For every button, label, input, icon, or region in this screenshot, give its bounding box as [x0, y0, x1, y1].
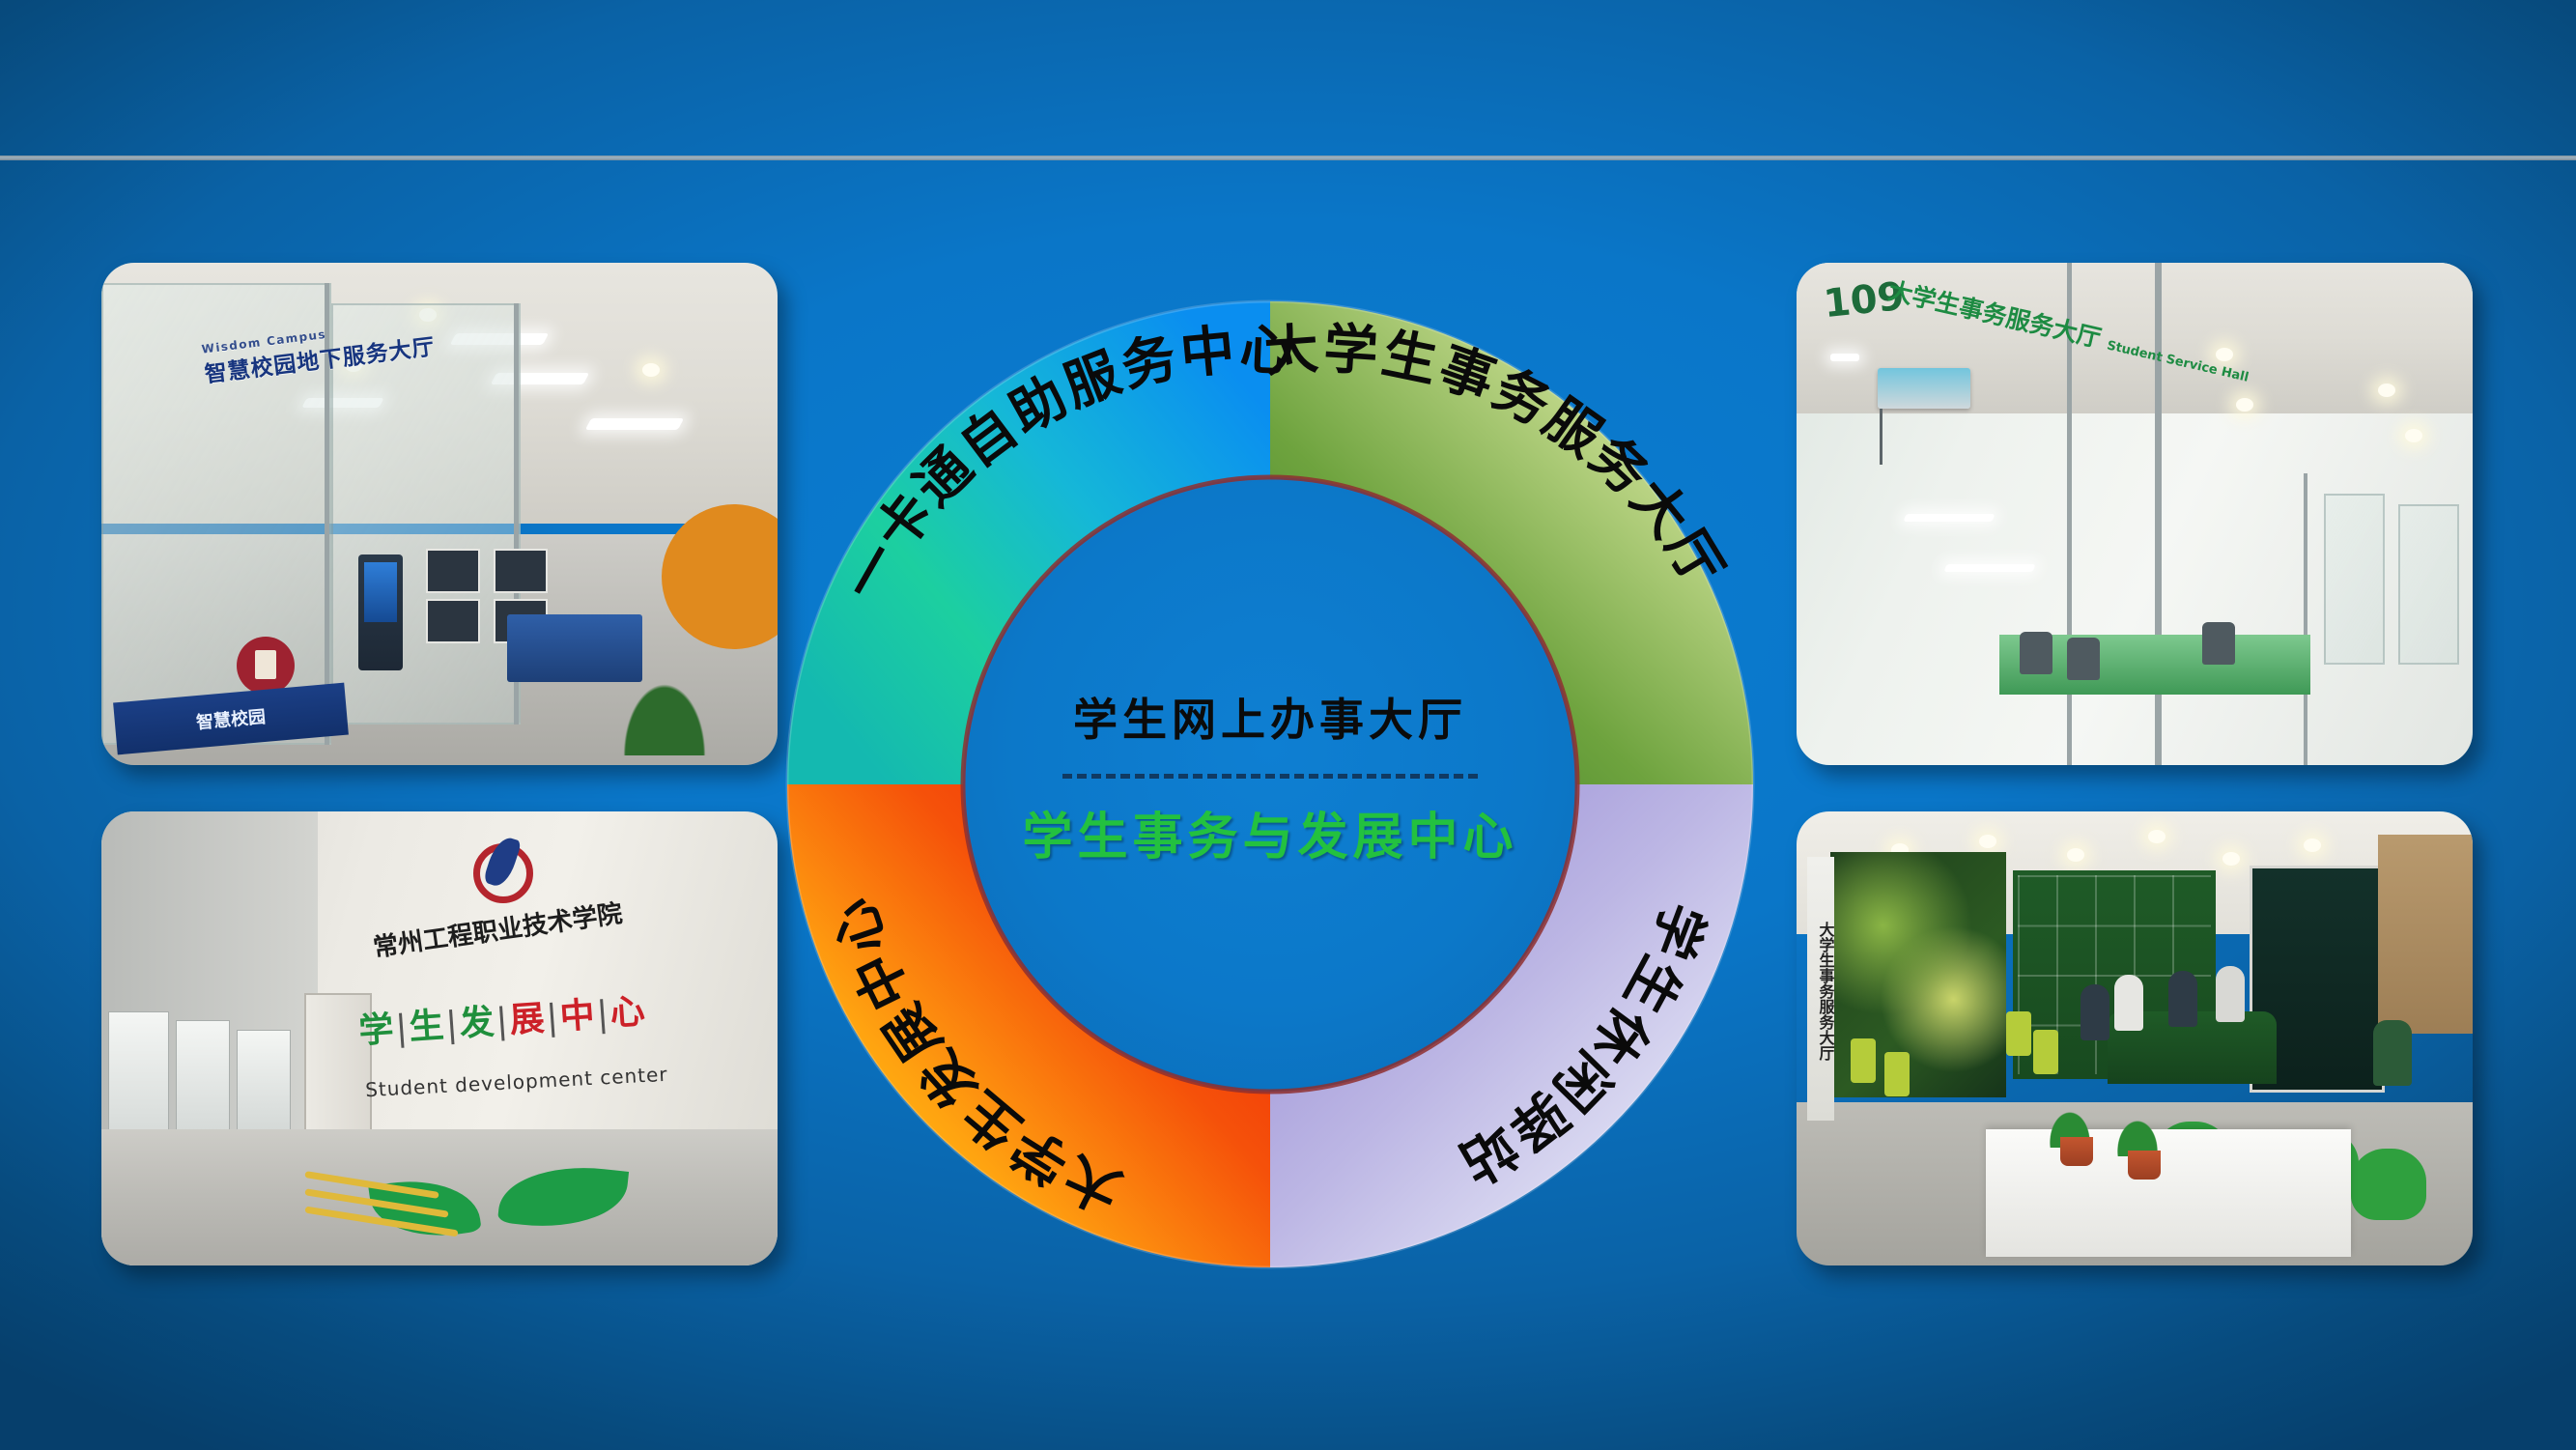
photo-card-student-lounge: 大学生事务服务大厅	[1797, 811, 2473, 1265]
ceiling-downlight	[2148, 830, 2166, 843]
lounge-chair	[2351, 1149, 2426, 1220]
chair	[2067, 638, 2100, 680]
bar-stool	[1884, 1052, 1910, 1096]
plant-pot	[2128, 1151, 2161, 1180]
header-band	[0, 0, 2576, 158]
donut-center-title: 学生网上办事大厅	[1073, 685, 1467, 749]
photo-card-one-card-service-hall: Wisdom Campus 智慧校园地下服务大厅 智慧校园	[101, 263, 778, 765]
plant-pot	[2060, 1137, 2093, 1166]
ceiling-downlight	[642, 363, 660, 377]
bar-stool	[1851, 1038, 1876, 1083]
potted-palm	[592, 630, 737, 755]
wall-char-6: 心	[609, 992, 646, 1034]
photo-scene: Wisdom Campus 智慧校园地下服务大厅 智慧校园	[101, 263, 778, 765]
white-table	[1986, 1129, 2351, 1257]
ceiling-light	[1944, 564, 2036, 572]
header-divider-rule	[0, 156, 2576, 160]
photo-scene: 常州工程职业技术学院 学|生|发|展|中|心 Student developme…	[101, 811, 778, 1265]
wall-display-panel	[494, 549, 548, 593]
self-service-kiosk	[358, 554, 403, 670]
ceiling-light	[1830, 354, 1859, 361]
photo-card-student-development-center: 常州工程职业技术学院 学|生|发|展|中|心 Student developme…	[101, 811, 778, 1265]
photo-card-student-affairs-hall: 109 大学生事务服务大厅Student Service Hall	[1797, 263, 2473, 765]
photo-scene: 大学生事务服务大厅	[1797, 811, 2473, 1265]
wall-char-2: 生	[408, 1006, 445, 1047]
mullion	[2304, 473, 2307, 765]
donut-center-hub: 学生网上办事大厅 学生事务与发展中心	[966, 480, 1574, 1089]
bar-stool	[2033, 1030, 2058, 1074]
ceiling-downlight	[2378, 384, 2395, 397]
wall-char-5: 中	[558, 995, 596, 1037]
university-logo	[473, 843, 533, 903]
person	[2081, 984, 2109, 1040]
vertical-hall-sign: 大学生事务服务大厅	[1807, 857, 1834, 1121]
ceiling-downlight	[1979, 835, 1996, 848]
chair	[2020, 632, 2052, 674]
wall-display-panel	[426, 549, 480, 593]
ceiling-light	[1904, 514, 1996, 522]
potted-plant	[2108, 1106, 2167, 1156]
glass-panel	[2324, 494, 2385, 665]
glass-panel	[2398, 504, 2459, 665]
photo-scene: 109 大学生事务服务大厅Student Service Hall	[1797, 263, 2473, 765]
donut-center-divider	[1062, 774, 1478, 779]
red-round-sign	[237, 637, 295, 695]
person	[2168, 971, 2197, 1027]
ceiling-downlight	[2067, 848, 2084, 862]
wall-char-1: 学	[357, 1009, 395, 1051]
bar-stool	[2006, 1011, 2031, 1056]
person	[2114, 975, 2143, 1031]
hanging-sign-plate	[1878, 368, 1970, 409]
donut-diagram: 一卡通自助服务中心 大学生事务服务大厅 学生休闲驿站 大学生发展中心 学生网上办…	[768, 282, 1772, 1287]
wall-char-3: 发	[458, 1003, 495, 1044]
person	[2216, 966, 2245, 1022]
wood-panel-sign	[2378, 835, 2473, 1035]
person	[2373, 1020, 2412, 1086]
donut-center-subtitle: 学生事务与发展中心	[1022, 796, 1517, 868]
wall-display-panel	[426, 599, 480, 643]
ceiling-downlight	[2405, 429, 2422, 442]
wall-char-4: 展	[508, 999, 546, 1040]
ceiling-light	[585, 418, 684, 430]
chair	[2202, 622, 2235, 665]
